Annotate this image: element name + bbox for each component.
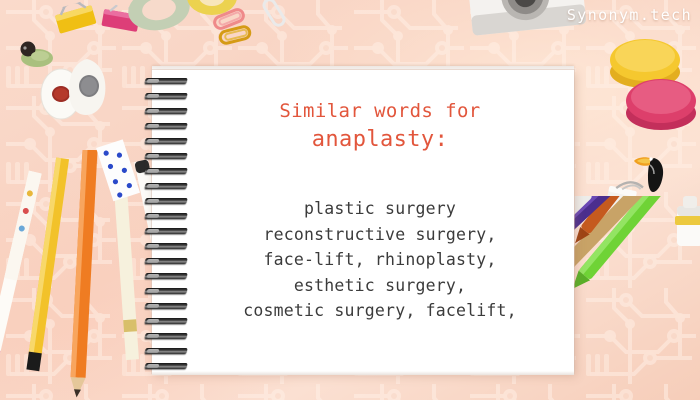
washi-tape-yellow-icon bbox=[186, 0, 238, 16]
synonym-list: plastic surgery reconstructive surgery, … bbox=[190, 196, 570, 324]
bird-figurine-icon bbox=[18, 40, 54, 68]
synonym-line: cosmetic surgery, facelift, bbox=[190, 298, 570, 324]
macaron-pink-icon bbox=[624, 74, 698, 132]
title-prefix: Similar words for bbox=[190, 98, 570, 124]
page-content: Similar words for anaplasty: plastic sur… bbox=[190, 70, 570, 373]
spiral-binding bbox=[145, 72, 191, 372]
synonym-line: plastic surgery bbox=[190, 196, 570, 222]
stamp-gray-icon bbox=[66, 58, 108, 116]
synonym-line: face-lift, rhinoplasty, bbox=[190, 247, 570, 273]
synonym-line: reconstructive surgery, bbox=[190, 222, 570, 248]
site-watermark: Synonym.tech bbox=[567, 6, 692, 24]
markers-group bbox=[566, 196, 700, 400]
headword: anaplasty: bbox=[190, 124, 570, 156]
synonym-line: esthetic surgery, bbox=[190, 273, 570, 299]
page-title: Similar words for anaplasty: bbox=[190, 70, 570, 156]
